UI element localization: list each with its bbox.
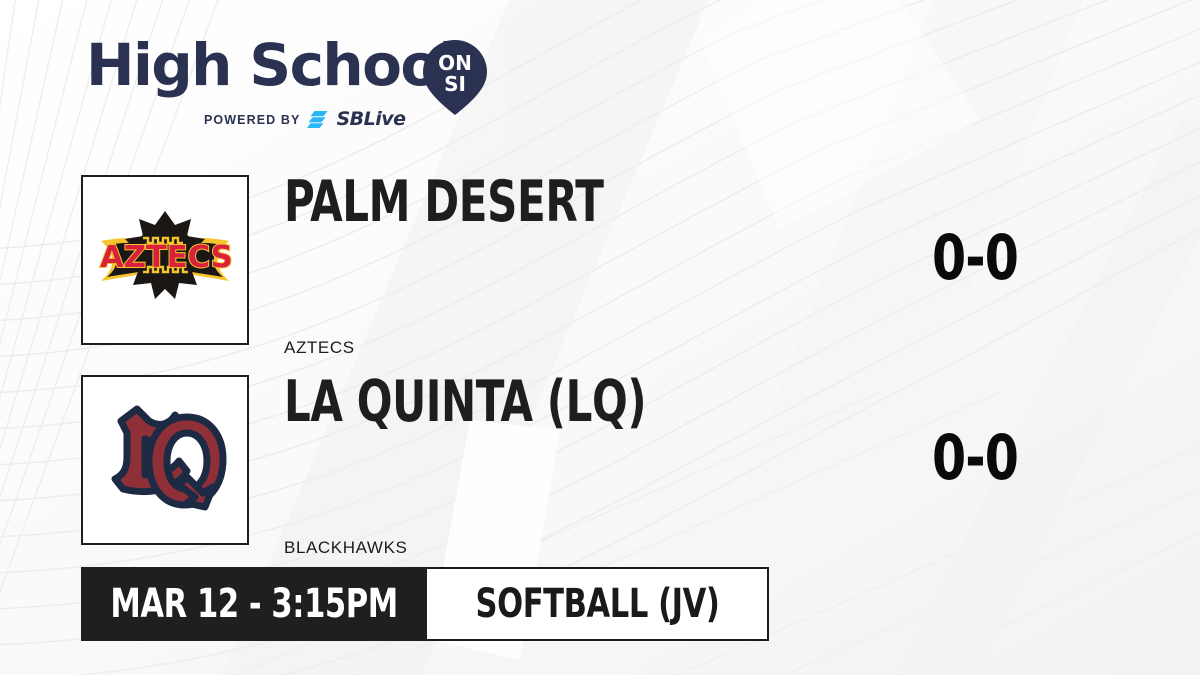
- brand-header: High School ON SI POWERED BY SBLive: [86, 32, 516, 132]
- aztecs-logo-wordmark: AZTECS: [100, 240, 233, 275]
- game-sport-chip: SOFTBALL (JV): [427, 567, 769, 641]
- team-school-name: LA QUINTA (LQ): [284, 373, 792, 431]
- sblive-s-icon: [307, 111, 329, 128]
- team-record: 0-0: [900, 427, 1050, 489]
- game-info-banner: MAR 12 - 3:15PM SOFTBALL (JV): [81, 567, 769, 641]
- powered-by-label: POWERED BY: [204, 113, 300, 127]
- team-text-block: LA QUINTA (LQ) BLACKHAWKS: [284, 373, 904, 431]
- on-si-pin-icon: ON SI: [422, 38, 488, 116]
- team-text-block: PALM DESERT AZTECS: [284, 173, 904, 231]
- la-quinta-blackhawks-logo: [81, 375, 249, 545]
- game-sport-label: SOFTBALL (JV): [475, 584, 719, 624]
- pin-bottom-label: SI: [444, 72, 466, 96]
- game-datetime-chip: MAR 12 - 3:15PM: [81, 567, 427, 641]
- team-record: 0-0: [900, 227, 1050, 289]
- team-mascot-name: BLACKHAWKS: [284, 538, 407, 558]
- palm-desert-aztecs-logo: AZTECS: [81, 175, 249, 345]
- scoreboard-card: High School ON SI POWERED BY SBLive: [0, 0, 1200, 675]
- team-school-name: PALM DESERT: [284, 173, 792, 231]
- sblive-wordmark: SBLive: [336, 110, 405, 129]
- game-datetime-label: MAR 12 - 3:15PM: [110, 584, 397, 624]
- page-title: High School: [86, 32, 457, 98]
- powered-by-row: POWERED BY SBLive: [204, 110, 406, 129]
- team-mascot-name: AZTECS: [284, 338, 355, 358]
